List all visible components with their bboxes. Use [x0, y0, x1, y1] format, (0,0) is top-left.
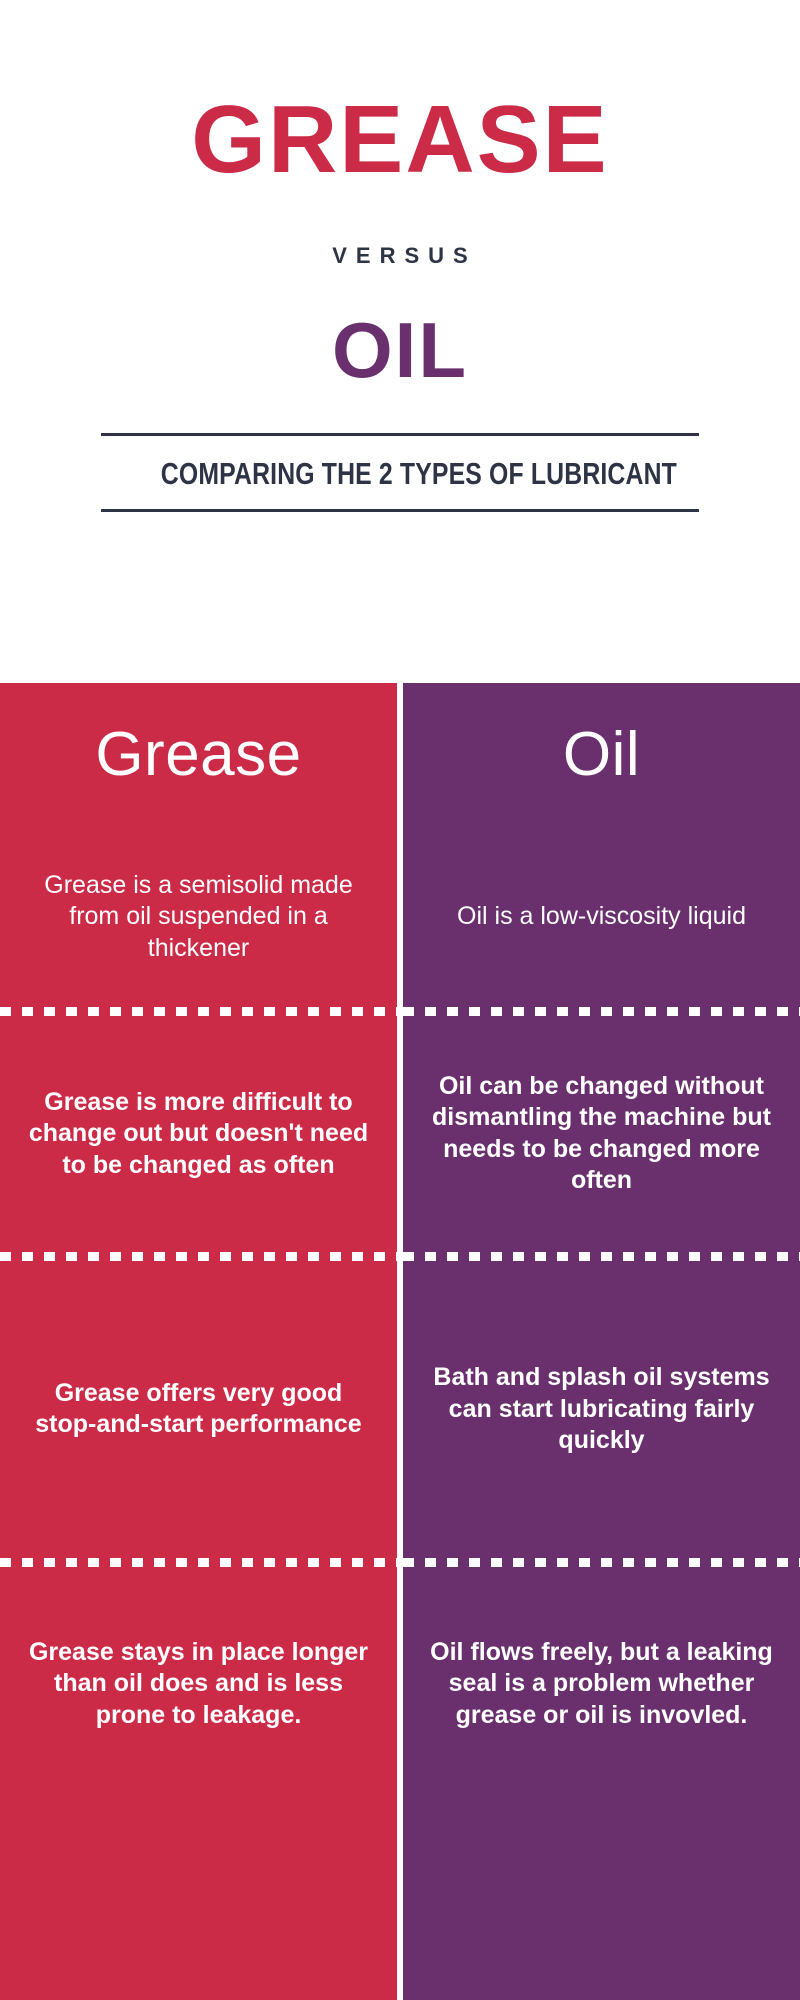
row-separator-3-grease	[0, 1558, 397, 1567]
cell-oil-3-text: Bath and splash oil systems can start lu…	[427, 1362, 776, 1457]
cell-grease-1-text: Grease is a semisolid made from oil susp…	[24, 870, 373, 965]
column-heading-grease: Grease	[0, 683, 397, 828]
versus-label: VERSUS	[0, 243, 800, 269]
cell-oil-2: Oil can be changed without dismantling t…	[403, 1016, 800, 1252]
tagline-text: COMPARING THE 2 TYPES OF LUBRICANT	[161, 436, 639, 509]
row-separator-1-oil	[403, 1007, 800, 1016]
row-separator-3-oil	[403, 1558, 800, 1567]
row-separator-2-grease	[0, 1252, 397, 1261]
infographic-page: GREASE VERSUS OIL COMPARING THE 2 TYPES …	[0, 0, 800, 2000]
row-separator-2-oil	[403, 1252, 800, 1261]
header: GREASE VERSUS OIL COMPARING THE 2 TYPES …	[0, 0, 800, 512]
tagline-block: COMPARING THE 2 TYPES OF LUBRICANT	[101, 433, 699, 512]
page-title-grease: GREASE	[0, 92, 800, 188]
cell-oil-2-text: Oil can be changed without dismantling t…	[427, 1071, 776, 1197]
row-separator-1-grease	[0, 1007, 397, 1016]
comparison-grid: Grease Grease is a semisolid made from o…	[0, 683, 800, 2000]
cell-oil-4: Oil flows freely, but a leaking seal is …	[403, 1567, 800, 2000]
cell-grease-4: Grease stays in place longer than oil do…	[0, 1567, 397, 2000]
cell-grease-1: Grease is a semisolid made from oil susp…	[0, 828, 397, 1007]
cell-oil-1-text: Oil is a low-viscosity liquid	[427, 901, 776, 933]
column-grease: Grease Grease is a semisolid made from o…	[0, 683, 397, 2000]
cell-grease-2: Grease is more difficult to change out b…	[0, 1016, 397, 1252]
cell-grease-3-text: Grease offers very good stop-and-start p…	[24, 1378, 373, 1441]
divider-bottom	[101, 509, 699, 512]
cell-grease-2-text: Grease is more difficult to change out b…	[24, 1087, 373, 1182]
cell-oil-1: Oil is a low-viscosity liquid	[403, 828, 800, 1007]
page-title-oil: OIL	[0, 311, 800, 389]
column-heading-oil: Oil	[403, 683, 800, 828]
cell-oil-4-text: Oil flows freely, but a leaking seal is …	[427, 1637, 776, 1732]
cell-grease-3: Grease offers very good stop-and-start p…	[0, 1261, 397, 1558]
column-oil: Oil Oil is a low-viscosity liquid Oil ca…	[403, 683, 800, 2000]
cell-grease-4-text: Grease stays in place longer than oil do…	[24, 1637, 373, 1732]
cell-oil-3: Bath and splash oil systems can start lu…	[403, 1261, 800, 1558]
